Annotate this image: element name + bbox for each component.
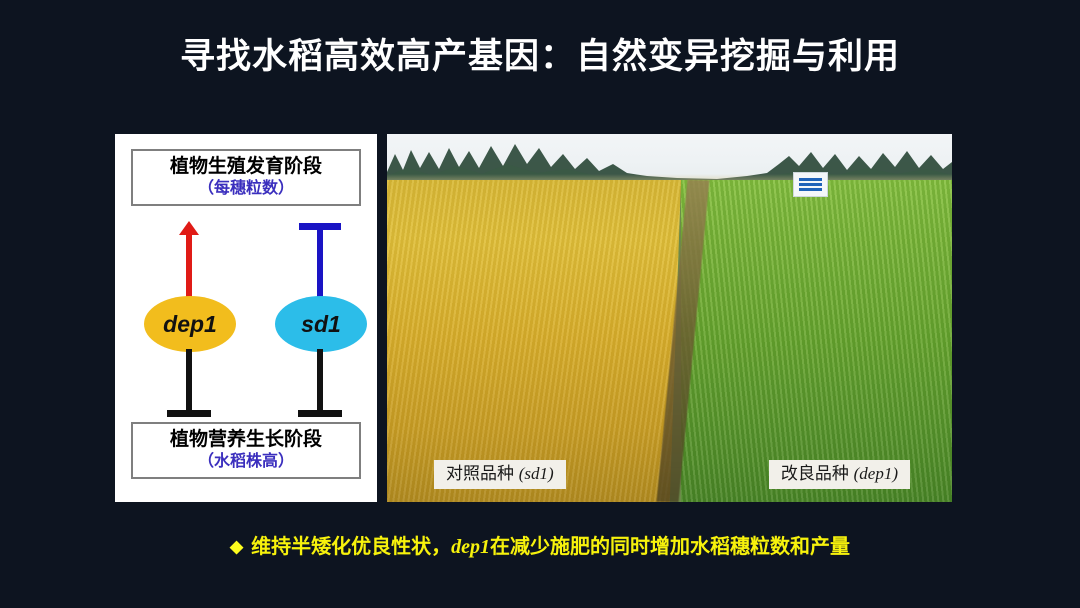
reproductive-stage-title: 植物生殖发育阶段 bbox=[135, 156, 357, 178]
control-variety-field-area bbox=[387, 180, 681, 502]
control-variety-label-gene: (sd1) bbox=[519, 464, 554, 483]
pathway-diagram-panel: 植物生殖发育阶段 （每穗粒数） dep1 sd1 植物营养生长阶段 （水稻株高） bbox=[115, 134, 377, 502]
improved-variety-label: 改良品种 (dep1) bbox=[769, 460, 910, 489]
improved-variety-label-gene: (dep1) bbox=[854, 464, 898, 483]
improved-variety-label-text: 改良品种 bbox=[781, 464, 854, 483]
gene-node-dep1: dep1 bbox=[144, 296, 236, 352]
reproductive-stage-box: 植物生殖发育阶段 （每穗粒数） bbox=[131, 149, 361, 206]
caption-part-two: 在减少施肥的同时增加水稻穗粒数和产量 bbox=[490, 536, 850, 558]
inhibition-cap-sd1-to-vegetative-icon bbox=[298, 410, 342, 417]
caption-gene-name: dep1 bbox=[451, 536, 490, 558]
page-title: 寻找水稻高效高产基因：自然变异挖掘与利用 bbox=[0, 36, 1080, 78]
inhibition-cap-dep1-to-vegetative-icon bbox=[167, 410, 211, 417]
gene-node-sd1: sd1 bbox=[275, 296, 367, 352]
inhibition-bar-sd1-to-reproductive-icon bbox=[317, 229, 323, 297]
vegetative-stage-title: 植物营养生长阶段 bbox=[135, 429, 357, 451]
field-trial-photo: 对照品种 (sd1) 改良品种 (dep1) bbox=[387, 134, 952, 502]
field-signboard bbox=[793, 172, 828, 197]
inhibition-bar-sd1-to-vegetative-icon bbox=[317, 349, 323, 411]
vegetative-stage-subtitle: （水稻株高） bbox=[135, 452, 357, 471]
reproductive-stage-subtitle: （每穗粒数） bbox=[135, 179, 357, 198]
improved-variety-field-area bbox=[681, 180, 952, 502]
slide-caption: ◆维持半矮化优良性状，dep1在减少施肥的同时增加水稻穗粒数和产量 bbox=[0, 530, 1080, 559]
vegetative-stage-box: 植物营养生长阶段 （水稻株高） bbox=[131, 422, 361, 479]
control-variety-label-text: 对照品种 bbox=[446, 464, 519, 483]
diamond-bullet-icon: ◆ bbox=[230, 537, 243, 556]
caption-part-one: 维持半矮化优良性状， bbox=[251, 536, 451, 558]
control-variety-label: 对照品种 (sd1) bbox=[434, 460, 566, 489]
activation-arrow-dep1-to-reproductive-icon bbox=[186, 229, 192, 297]
pathway-diagram-canvas: 植物生殖发育阶段 （每穗粒数） dep1 sd1 植物营养生长阶段 （水稻株高） bbox=[123, 141, 369, 495]
inhibition-bar-dep1-to-vegetative-icon bbox=[186, 349, 192, 411]
